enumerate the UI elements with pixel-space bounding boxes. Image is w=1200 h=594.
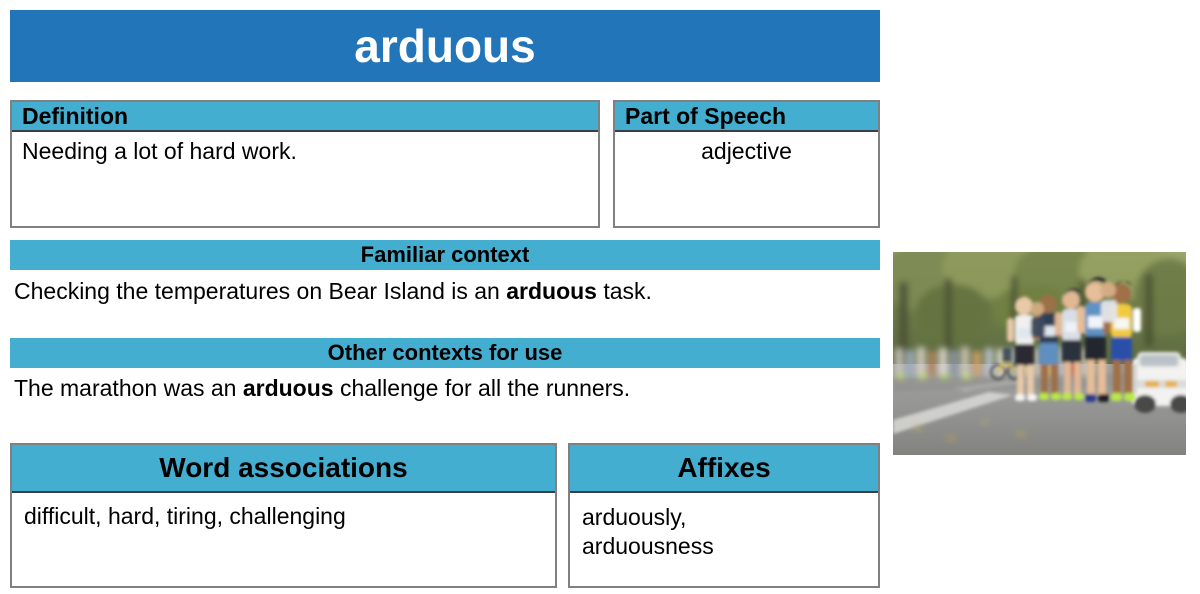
- familiar-context-text-before: Checking the temperatures on Bear Island…: [14, 278, 506, 304]
- page-title: arduous: [354, 23, 535, 69]
- other-contexts-keyword: arduous: [243, 375, 334, 401]
- word-associations-header: Word associations: [12, 445, 555, 493]
- familiar-context-text-after: task.: [597, 278, 652, 304]
- other-contexts-text-before: The marathon was an: [14, 375, 243, 401]
- other-contexts-sentence: The marathon was an arduous challenge fo…: [14, 375, 880, 403]
- word-title-banner: arduous: [10, 10, 880, 82]
- other-contexts-text-after: challenge for all the runners.: [334, 375, 631, 401]
- affixes-header: Affixes: [570, 445, 878, 493]
- definition-body: Needing a lot of hard work.: [12, 132, 598, 165]
- part-of-speech-box: Part of Speech adjective: [613, 100, 880, 228]
- familiar-context-header: Familiar context: [10, 240, 880, 270]
- affixes-body: arduously, arduousness: [570, 493, 878, 561]
- affixes-line-2: arduousness: [582, 532, 866, 561]
- definition-header: Definition: [12, 102, 598, 132]
- marathon-runners-photo: [893, 252, 1186, 455]
- other-contexts-header: Other contexts for use: [10, 338, 880, 368]
- vocabulary-word-card: arduous Definition Needing a lot of hard…: [0, 0, 1200, 594]
- affixes-box: Affixes arduously, arduousness: [568, 443, 880, 588]
- familiar-context-keyword: arduous: [506, 278, 597, 304]
- marathon-runners-image: [893, 252, 1186, 455]
- word-associations-body: difficult, hard, tiring, challenging: [12, 493, 555, 530]
- part-of-speech-header: Part of Speech: [615, 102, 878, 132]
- word-associations-box: Word associations difficult, hard, tirin…: [10, 443, 557, 588]
- part-of-speech-body: adjective: [615, 132, 878, 165]
- affixes-line-1: arduously,: [582, 503, 866, 532]
- familiar-context-sentence: Checking the temperatures on Bear Island…: [14, 278, 880, 306]
- definition-box: Definition Needing a lot of hard work.: [10, 100, 600, 228]
